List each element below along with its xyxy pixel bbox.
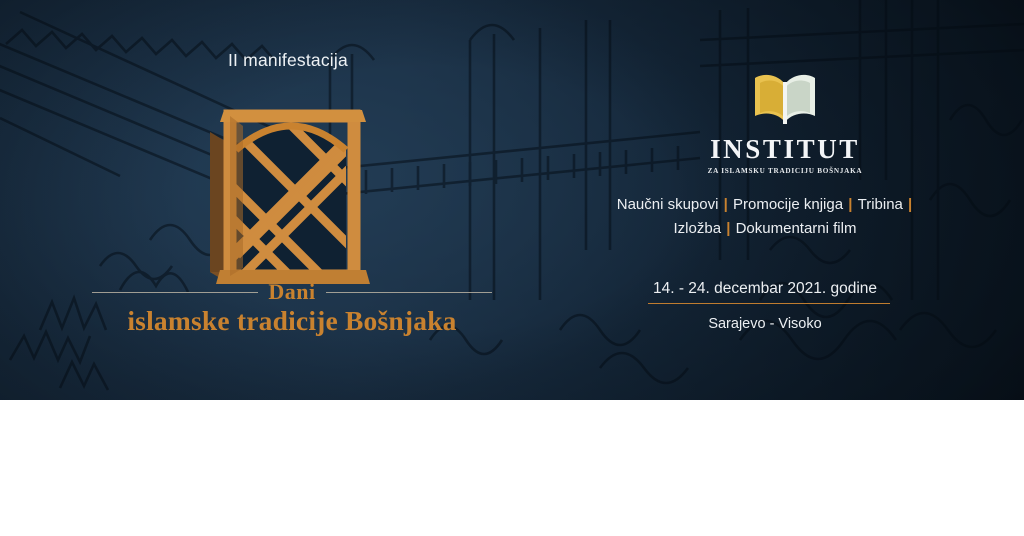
institute-subtitle: ZA ISLAMSKU TRADICIJU BOŠNJAKA [690,167,880,175]
institute-name: INSTITUT [690,136,880,163]
program-separator: | [903,196,913,213]
program-item: Promocije knjiga [733,196,843,213]
program-item: Naučni skupovi [617,196,719,213]
institute-logo: INSTITUT ZA ISLAMSKU TRADICIJU BOŠNJAKA [690,68,880,175]
title-small: Dani [268,279,315,305]
program-separator: | [721,220,736,237]
program-item: Tribina [858,196,903,213]
title-large: islamske tradicije Bošnjaka [92,305,492,337]
lattice-window-icon [186,92,396,297]
dani-row: Dani [92,281,492,303]
hero-banner: II manifestacija [0,0,1024,400]
program-item: Dokumentarni film [736,220,857,237]
program-line-2: Izložba | Dokumentarni film [595,217,935,241]
manifestation-label: II manifestacija [228,50,348,71]
dates-rule [648,303,890,304]
poster-root: II manifestacija [0,0,1024,536]
program-separator: | [843,196,858,213]
open-book-icon [745,68,825,130]
program-separator: | [718,196,733,213]
event-title-block: Dani islamske tradicije Bošnjaka [92,281,492,337]
title-rule-right [326,292,492,293]
program-item: Izložba [674,220,722,237]
event-dates: 14. - 24. decembar 2021. godine [610,280,920,298]
program-list: Naučni skupovi | Promocije knjiga | Trib… [595,193,935,242]
event-location: Sarajevo - Visoko [610,316,920,332]
title-rule-left [92,292,258,293]
sponsor-strip: bh Moja priča. [0,400,1024,536]
program-line-1: Naučni skupovi | Promocije knjiga | Trib… [595,193,935,217]
